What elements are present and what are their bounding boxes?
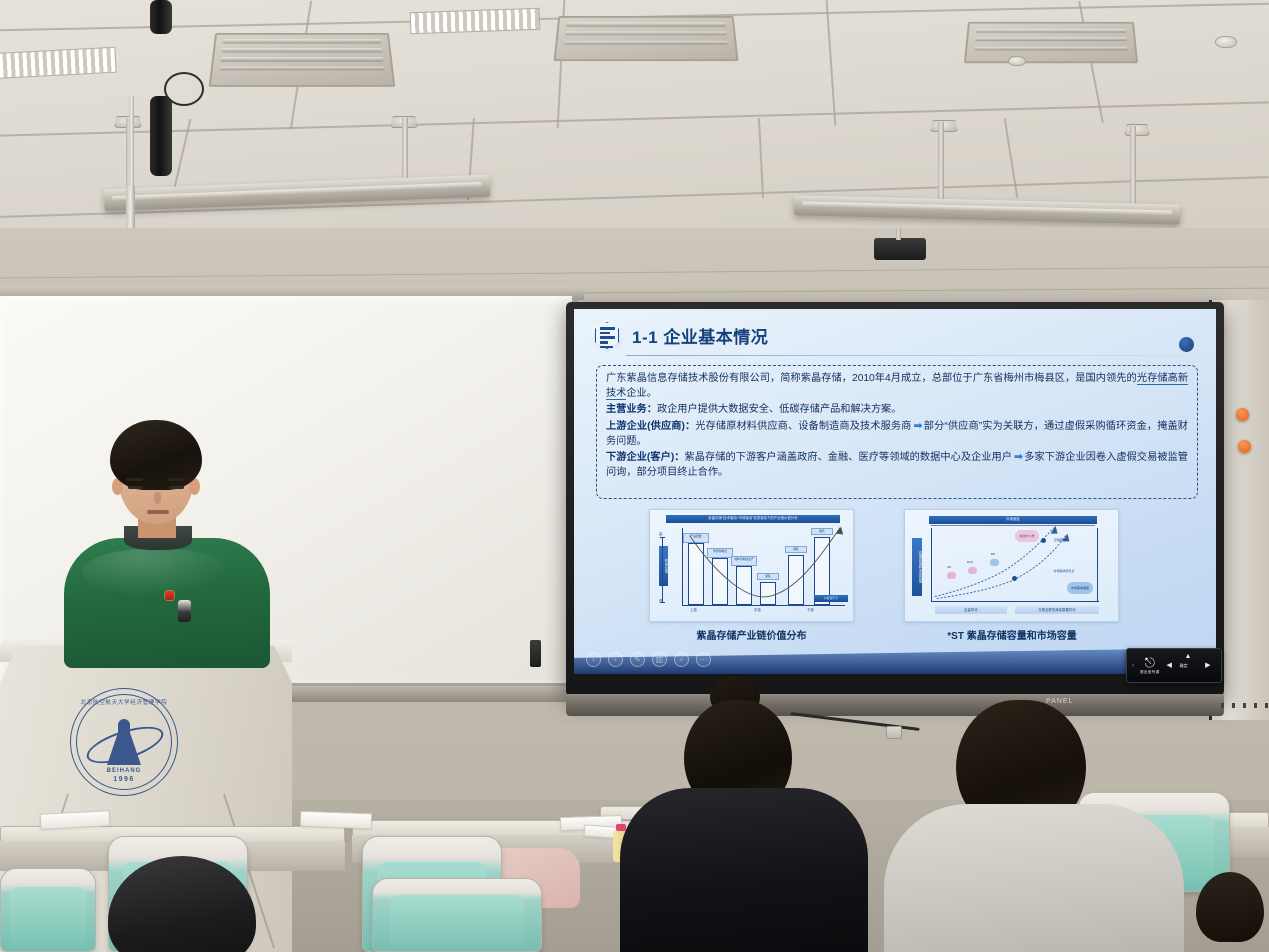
ceiling-speaker-3 xyxy=(930,120,958,132)
pen-icon[interactable]: ✎ xyxy=(630,652,645,667)
presenter-eye-left xyxy=(128,486,143,489)
chart-right-label-cd: CD xyxy=(947,565,951,569)
audience-person-gray-shirt xyxy=(884,700,1184,952)
osd-ok-label[interactable]: 确定 xyxy=(1179,663,1187,669)
emblem-year: 1996 xyxy=(71,776,177,783)
emblem-name: BEIHANG xyxy=(71,768,177,774)
display-osd-control[interactable]: ‹ ⎋ 退出信号源 ▲ ◀ ▶ 确定 xyxy=(1126,648,1222,683)
zoom-icon[interactable]: ⌕ xyxy=(674,652,689,667)
classroom-scene: 1-1 企业基本情况 广东紫晶信息存储技术股份有限公司，简称紫晶存储，2010年… xyxy=(0,0,1269,952)
chair-3-seatback xyxy=(390,895,524,947)
ceiling-air-vent-3 xyxy=(964,22,1138,63)
chart-left-xtick-2: 中游 xyxy=(754,607,761,612)
chart-right-annotation-capacity: 存储容量 xyxy=(1047,537,1073,544)
paragraph-upstream: 上游企业(供应商)：光存储原材料供应商、设备制造商及技术服务商➡部分“供应商”实… xyxy=(606,419,1188,449)
paragraph-downstream: 下游企业(客户)：紫晶存储的下游客户涵盖政府、金融、医疗等领域的数据中心及企业用… xyxy=(606,450,1188,480)
chart-right-point-newtech xyxy=(1041,538,1046,543)
smoke-detector-icon xyxy=(1215,36,1237,48)
ceiling-air-vent xyxy=(209,33,396,87)
downstream-text: 紫晶存储的下游客户涵盖政府、金融、医疗等领域的数据中心及企业用户 xyxy=(685,452,1013,463)
audience-person-right-edge xyxy=(1196,872,1269,952)
decorative-dot xyxy=(1179,337,1194,352)
status-led-orange-2 xyxy=(1238,440,1251,453)
podium-emblem: 北京航空航天大学经济管理学院 BEIHANG 1996 xyxy=(70,688,178,796)
chart-right-badge-market: 市场需求容量 xyxy=(1067,582,1093,594)
chart-left-footer-tag: 价值链环节 xyxy=(814,595,848,602)
chart-right-point-bd xyxy=(990,559,999,566)
chart-left-caption: 紫晶存储产业链价值分布 xyxy=(634,627,869,642)
chart-right-phase-1: 自建时代 xyxy=(935,606,1007,614)
chart-right-label-dvd: DVD xyxy=(967,560,973,564)
osd-dpad[interactable]: ▲ ◀ ▶ 确定 xyxy=(1165,652,1211,680)
presenter-brow-left xyxy=(126,478,143,481)
exit-source-button[interactable]: ⎋ 退出信号源 xyxy=(1140,657,1159,675)
presenter-hair xyxy=(110,420,202,490)
audience-head-4 xyxy=(1196,872,1264,942)
presenter xyxy=(58,420,274,660)
presenter-eye-right xyxy=(169,486,184,489)
emblem-arc-text: 北京航空航天大学经济管理学院 xyxy=(71,698,177,706)
title-divider xyxy=(626,355,1206,356)
right-arrow-icon-upstream: ➡ xyxy=(911,420,923,432)
audience-head-3 xyxy=(108,856,256,952)
chart-capacity-market: 存储速度 存储容量和市场容量 新技术介质 存储容量 xyxy=(904,509,1119,622)
paragraph-intro: 广东紫晶信息存储技术股份有限公司，简称紫晶存储，2010年4月成立，总部位于广东… xyxy=(606,371,1188,401)
chart-right-label-bd: BD xyxy=(991,552,995,556)
paper-sheet-2 xyxy=(300,811,373,830)
osd-side-caret[interactable]: ‹ xyxy=(1132,663,1134,669)
chart-left-smile-curve xyxy=(650,510,853,621)
audience-torso-1 xyxy=(620,788,868,952)
presentation-toolbar[interactable]: ‹ › ✎ ▥ ⌕ ⋯ xyxy=(586,652,711,667)
upstream-label: 上游企业(供应商)： xyxy=(606,421,695,432)
right-arrow-icon[interactable]: ▶ xyxy=(1205,662,1210,669)
chart-right-caption: *ST 紫晶存储容量和市场容量 xyxy=(892,627,1132,642)
status-led-orange-1 xyxy=(1236,408,1249,421)
audience-person-cap-front xyxy=(86,856,272,952)
prev-icon[interactable]: ‹ xyxy=(586,652,601,667)
slide-title-row: 1-1 企业基本情况 xyxy=(592,319,768,352)
chart-right-series xyxy=(905,510,1118,621)
chart-right-annotation-newtech: 新技术介质 xyxy=(1015,530,1039,542)
suspended-light-bar-right xyxy=(794,195,1180,224)
more-icon[interactable]: ⋯ xyxy=(696,652,711,667)
microphone-cable xyxy=(164,72,204,106)
downstream-label: 下游企业(客户)： xyxy=(606,452,685,463)
chart-right-point-dvd xyxy=(968,567,977,574)
interactive-display[interactable]: 1-1 企业基本情况 广东紫晶信息存储技术股份有限公司，简称紫晶存储，2010年… xyxy=(566,302,1224,696)
chart-left-xtick-3: 下游 xyxy=(807,607,814,612)
left-arrow-icon[interactable]: ◀ xyxy=(1166,662,1171,669)
paragraph-main-business: 主营业务：政企用户提供大数据安全、低碳存储产品和解决方案。 xyxy=(606,402,1188,417)
hanging-microphone-2[interactable] xyxy=(150,96,172,176)
ceiling-light-panel-2 xyxy=(410,8,541,35)
chart-right-point-cd xyxy=(947,572,956,579)
chair-3[interactable] xyxy=(372,878,542,952)
main-business-text: 政企用户提供大数据安全、低碳存储产品和解决方案。 xyxy=(657,404,902,415)
ceiling-air-vent-2 xyxy=(553,16,738,61)
chart-right-annotation-growth: 市场需求增长点 xyxy=(1043,568,1085,575)
up-arrow-icon[interactable]: ▲ xyxy=(1184,653,1191,660)
presentation-slide[interactable]: 1-1 企业基本情况 广东紫晶信息存储技术股份有限公司，简称紫晶存储，2010年… xyxy=(574,309,1216,674)
content-dashed-box: 广东紫晶信息存储技术股份有限公司，简称紫晶存储，2010年4月成立，总部位于广东… xyxy=(596,365,1198,499)
light-support-rod-3 xyxy=(938,122,944,204)
presenter-brow-right xyxy=(168,478,185,481)
light-support-rod-4 xyxy=(1130,126,1136,212)
chart-right-point-capacity xyxy=(1012,576,1017,581)
right-arrow-icon-downstream: ➡ xyxy=(1012,451,1024,463)
chair-6-seatback xyxy=(10,887,85,946)
presenter-nose xyxy=(154,492,161,504)
presenter-chest-emblem xyxy=(178,600,191,622)
chart-left-xtick-1: 上游 xyxy=(690,607,697,612)
wall-projector-box xyxy=(874,238,926,260)
chair-6[interactable] xyxy=(0,868,96,952)
ceiling-speaker-4 xyxy=(1124,124,1150,136)
hanging-microphone[interactable] xyxy=(150,0,172,34)
microphone-stem xyxy=(129,96,134,188)
display-speaker-grille xyxy=(1221,703,1269,708)
chart-value-chain: 紫晶存储“技术驱动+市场驱动”双重驱动下的产业链价值分布 附加价值 高 低 产品… xyxy=(649,509,854,622)
exit-icon: ⎋ xyxy=(1145,657,1155,669)
hex-list-icon xyxy=(592,319,622,352)
next-icon[interactable]: › xyxy=(608,652,623,667)
whiteboard-magnet[interactable] xyxy=(530,640,541,667)
chart-right-phase-2: 万物互联的海量数据时代 xyxy=(1015,606,1099,614)
intro-text-after: 企业。 xyxy=(626,388,657,399)
smoke-detector-icon-2 xyxy=(1008,56,1026,66)
slide-title: 1-1 企业基本情况 xyxy=(632,323,768,348)
main-business-label: 主营业务： xyxy=(606,404,657,415)
presenter-mouth xyxy=(147,510,169,514)
slide-grid-icon[interactable]: ▥ xyxy=(652,652,667,667)
presenter-sweater-highlight xyxy=(82,548,232,596)
audience-torso-2 xyxy=(884,804,1184,952)
slide-title-number: 1-1 xyxy=(632,328,658,347)
intro-text-before: 广东紫晶信息存储技术股份有限公司，简称紫晶存储，2010年4月成立，总部位于广东… xyxy=(606,373,1137,384)
audience-person-woman-suit xyxy=(612,676,872,952)
projector-mount xyxy=(896,228,901,240)
upstream-text: 光存储原材料供应商、设备制造商及技术服务商 xyxy=(695,421,911,432)
exit-source-label: 退出信号源 xyxy=(1140,670,1159,675)
ceiling-light-panel xyxy=(0,47,117,80)
slide-title-text: 企业基本情况 xyxy=(663,328,768,347)
presenter-party-pin-badge xyxy=(165,591,174,600)
